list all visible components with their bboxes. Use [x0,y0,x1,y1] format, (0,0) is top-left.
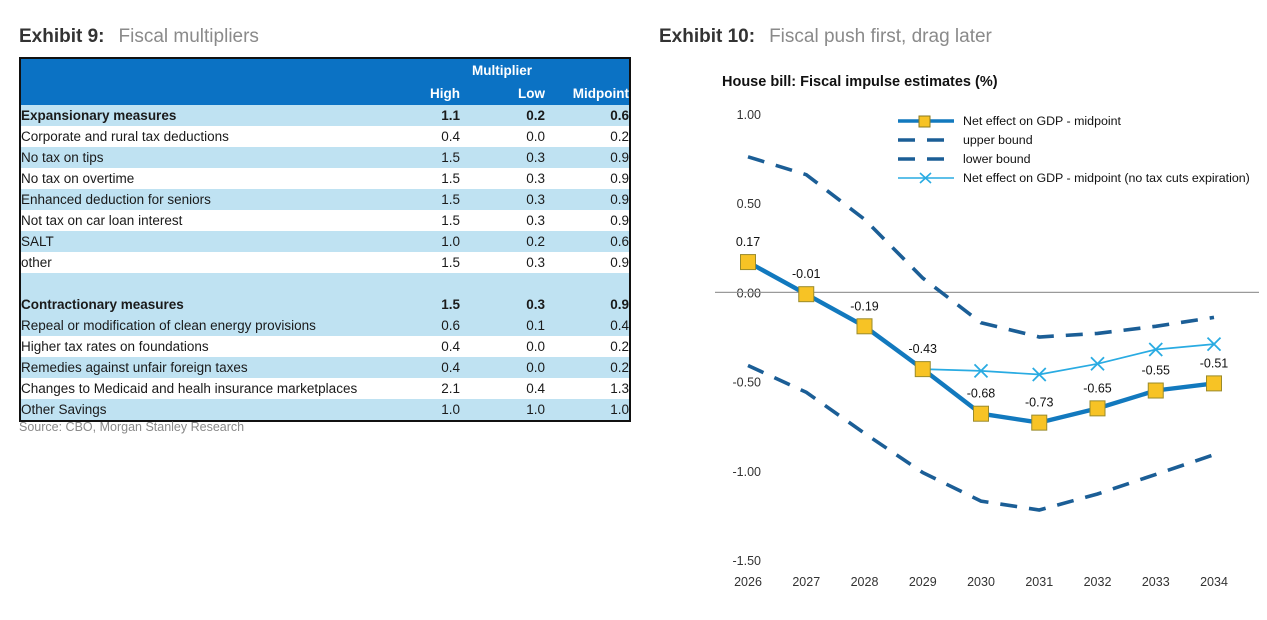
row-value-low: 0.4 [460,378,545,399]
fiscal-impulse-chart: 1.000.500.00-0.50-1.00-1.502026202720282… [650,0,1267,620]
row-label: Expansionary measures [20,105,375,126]
row-value-high: 1.0 [375,231,460,252]
row-label: Not tax on car loan interest [20,210,375,231]
table-row: SALT1.00.20.6 [20,231,630,252]
legend-key-lower-bound [896,152,956,166]
exhibit-9-panel: Exhibit 9:Fiscal multipliers Multiplier … [0,0,650,620]
row-value-high: 1.5 [375,252,460,273]
group-header-multiplier: Multiplier [375,58,630,83]
row-value-low: 0.3 [460,210,545,231]
series-marker-square [915,362,930,377]
table-row: Contractionary measures1.50.30.9 [20,294,630,315]
row-value-high: 0.4 [375,126,460,147]
table-spacer-row [20,273,630,294]
legend-key-upper-bound [896,133,956,147]
data-point-label: -0.65 [1083,381,1112,395]
table-row: Remedies against unfair foreign taxes0.4… [20,357,630,378]
row-value-mid: 0.9 [545,168,630,189]
y-axis-tick-label: 0.00 [737,286,761,300]
row-value-mid: 0.9 [545,147,630,168]
row-value-mid: 0.9 [545,294,630,315]
row-value-mid: 0.2 [545,336,630,357]
row-value-mid: 0.4 [545,315,630,336]
y-axis-tick-label: 0.50 [737,197,761,211]
row-value-mid: 1.3 [545,378,630,399]
table-row: Not tax on car loan interest1.50.30.9 [20,210,630,231]
table-row: Other Savings1.01.01.0 [20,399,630,421]
y-axis-tick-label: -0.50 [733,376,762,390]
row-value-low: 0.0 [460,336,545,357]
row-value-high: 1.5 [375,168,460,189]
row-label: SALT [20,231,375,252]
data-point-label: -0.68 [967,387,996,401]
row-label: Higher tax rates on foundations [20,336,375,357]
data-point-label: -0.43 [909,342,938,356]
series-marker-square [857,319,872,334]
column-header-measure [20,83,375,105]
row-value-low: 0.2 [460,231,545,252]
row-value-mid: 0.2 [545,126,630,147]
row-label: other [20,252,375,273]
table-group-header-row: Multiplier [20,58,630,83]
table-head: Multiplier High Low Midpoint [20,58,630,105]
row-label: Remedies against unfair foreign taxes [20,357,375,378]
table-row: No tax on tips1.50.30.9 [20,147,630,168]
row-value-high: 0.4 [375,357,460,378]
row-label: Changes to Medicaid and healh insurance … [20,378,375,399]
chart-legend: Net effect on GDP - midpoint upper bound… [896,111,1250,187]
row-value-high: 2.1 [375,378,460,399]
exhibit-9-number: Exhibit 9: [19,26,105,47]
data-point-label: -0.73 [1025,396,1054,410]
exhibit-9-title: Fiscal multipliers [105,26,259,47]
column-header-high: High [375,83,460,105]
row-label: No tax on tips [20,147,375,168]
row-value-mid: 0.9 [545,210,630,231]
row-value-low: 0.3 [460,147,545,168]
legend-label-lower-bound: lower bound [963,152,1031,166]
legend-label-no-expiration: Net effect on GDP - midpoint (no tax cut… [963,171,1250,185]
row-value-mid: 0.9 [545,252,630,273]
x-axis-tick-label: 2026 [734,575,762,589]
x-axis-tick-label: 2033 [1142,575,1170,589]
x-axis-tick-label: 2030 [967,575,995,589]
x-axis-tick-label: 2029 [909,575,937,589]
x-axis-tick-label: 2032 [1084,575,1112,589]
data-point-label: -0.01 [792,267,821,281]
row-value-low: 0.2 [460,105,545,126]
row-value-low: 0.3 [460,294,545,315]
column-header-low: Low [460,83,545,105]
y-axis-tick-label: 1.00 [737,108,761,122]
table-row: No tax on overtime1.50.30.9 [20,168,630,189]
series-marker-square [1207,376,1222,391]
row-value-low: 0.3 [460,252,545,273]
row-value-mid: 1.0 [545,399,630,421]
legend-label-midpoint: Net effect on GDP - midpoint [963,114,1121,128]
series-marker-square [974,406,989,421]
series-marker-square [799,287,814,302]
exhibit-10-panel: Exhibit 10:Fiscal push first, drag later… [650,0,1267,620]
table-row: Enhanced deduction for seniors1.50.30.9 [20,189,630,210]
row-label: Enhanced deduction for seniors [20,189,375,210]
legend-item-midpoint: Net effect on GDP - midpoint [896,111,1250,130]
row-value-high: 1.1 [375,105,460,126]
x-axis-tick-label: 2034 [1200,575,1228,589]
table-body: Expansionary measures1.10.20.6Corporate … [20,105,630,421]
row-value-high: 1.5 [375,210,460,231]
row-label: Corporate and rural tax deductions [20,126,375,147]
series-marker-x [1091,357,1104,370]
x-axis-tick-label: 2027 [792,575,820,589]
row-value-low: 0.0 [460,357,545,378]
row-value-low: 1.0 [460,399,545,421]
row-value-mid: 0.2 [545,357,630,378]
table-spacer-cell [20,273,630,294]
series-marker-square [1032,415,1047,430]
legend-item-lower-bound: lower bound [896,149,1250,168]
y-axis-tick-label: -1.00 [733,465,762,479]
row-value-mid: 0.6 [545,105,630,126]
table-row: Corporate and rural tax deductions0.40.0… [20,126,630,147]
table-row: Higher tax rates on foundations0.40.00.2 [20,336,630,357]
y-axis-tick-label: -1.50 [733,554,762,568]
row-value-high: 1.5 [375,189,460,210]
table-row: Repeal or modification of clean energy p… [20,315,630,336]
fiscal-multipliers-table: Multiplier High Low Midpoint Expansionar… [19,57,631,422]
series-marker-square [1148,383,1163,398]
row-value-high: 0.4 [375,336,460,357]
row-value-high: 1.5 [375,147,460,168]
series-marker-square [1090,401,1105,416]
legend-label-upper-bound: upper bound [963,133,1033,147]
row-value-low: 0.3 [460,168,545,189]
row-value-high: 1.0 [375,399,460,421]
table-row: other1.50.30.9 [20,252,630,273]
source-note: Source: CBO, Morgan Stanley Research [19,420,244,434]
table-row: Expansionary measures1.10.20.6 [20,105,630,126]
table-column-header-row: High Low Midpoint [20,83,630,105]
x-axis-tick-label: 2031 [1025,575,1053,589]
data-point-label: 0.17 [736,235,760,249]
exhibit-9-heading: Exhibit 9:Fiscal multipliers [19,26,259,48]
row-value-low: 0.0 [460,126,545,147]
data-point-label: -0.19 [850,299,879,313]
row-value-mid: 0.6 [545,231,630,252]
row-label: Repeal or modification of clean energy p… [20,315,375,336]
table-row: Changes to Medicaid and healh insurance … [20,378,630,399]
row-value-low: 0.3 [460,189,545,210]
group-header-blank [20,58,375,83]
row-value-high: 0.6 [375,315,460,336]
row-value-mid: 0.9 [545,189,630,210]
series-marker-square [741,255,756,270]
row-label: No tax on overtime [20,168,375,189]
legend-item-upper-bound: upper bound [896,130,1250,149]
row-value-low: 0.1 [460,315,545,336]
data-point-label: -0.51 [1200,356,1229,370]
row-label: Contractionary measures [20,294,375,315]
column-header-midpoint: Midpoint [545,83,630,105]
legend-key-midpoint [896,114,956,128]
legend-item-no-expiration: Net effect on GDP - midpoint (no tax cut… [896,168,1250,187]
x-axis-tick-label: 2028 [851,575,879,589]
row-value-high: 1.5 [375,294,460,315]
data-point-label: -0.55 [1142,364,1171,378]
legend-key-no-expiration [896,171,956,185]
row-label: Other Savings [20,399,375,421]
